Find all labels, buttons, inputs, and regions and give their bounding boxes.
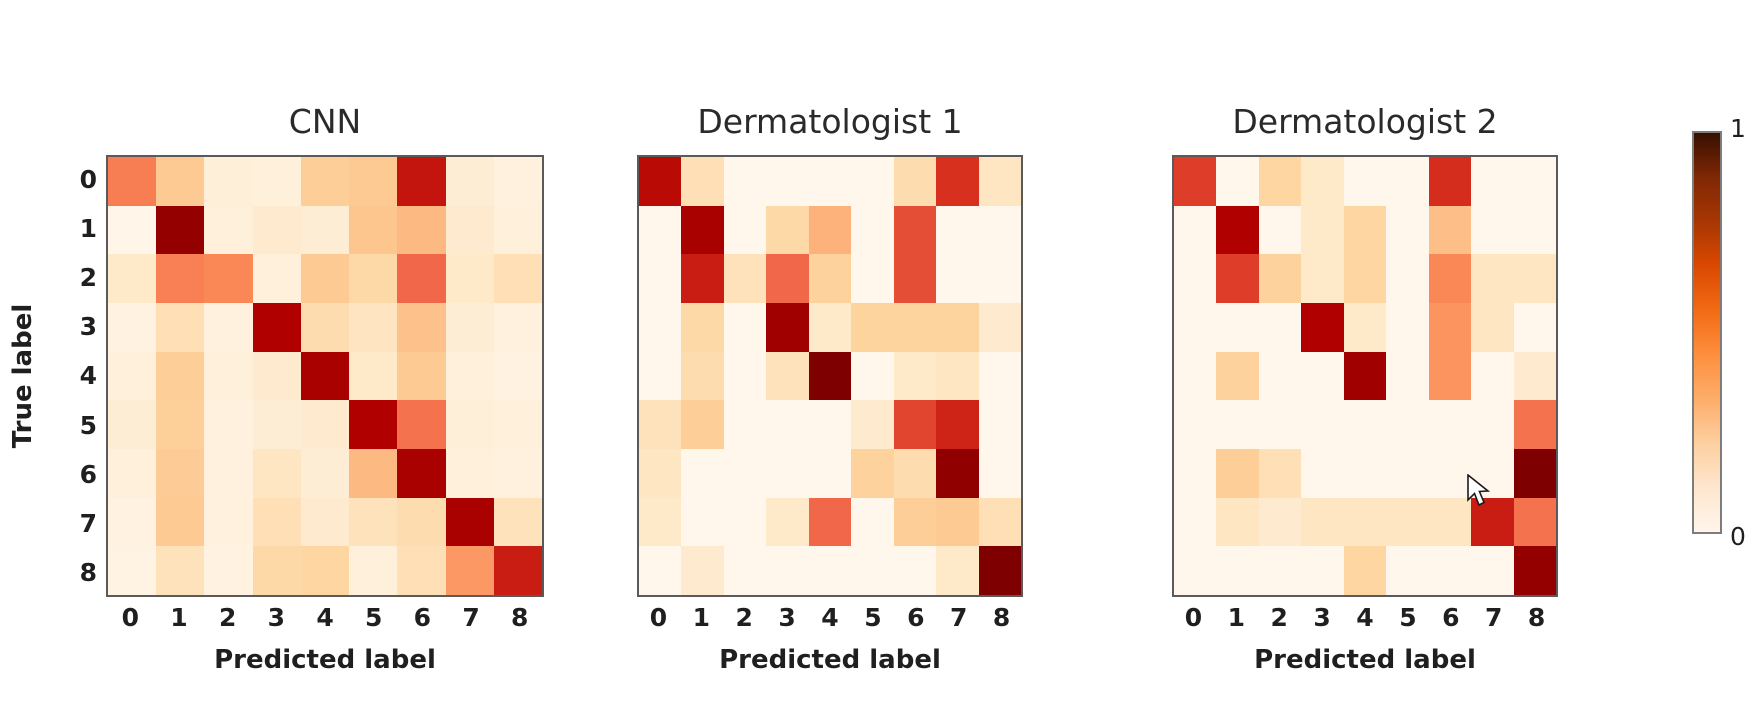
heatmap-cell: [108, 352, 156, 401]
heatmap-cell: [349, 206, 397, 255]
heatmap-cell: [766, 546, 808, 595]
heatmap-cell: [1216, 254, 1258, 303]
heatmap-cell: [1514, 157, 1556, 206]
heatmap-cell: [851, 400, 893, 449]
heatmap-cell: [1259, 157, 1301, 206]
heatmap-cell: [1259, 303, 1301, 352]
heatmap-cell: [1514, 546, 1556, 595]
heatmap-cell: [349, 157, 397, 206]
x-tick-5: 5: [851, 597, 894, 637]
heatmap-cell: [851, 254, 893, 303]
heatmap-cell: [156, 352, 204, 401]
heatmap-cell: [766, 303, 808, 352]
heatmap-cell: [681, 254, 723, 303]
x-tick-3: 3: [1301, 597, 1344, 637]
heatmap-cell: [681, 449, 723, 498]
heatmap-cell: [979, 206, 1021, 255]
heatmap-cell: [397, 449, 445, 498]
confusion-matrix-figure: True label 012345678 CNN 012345678 Predi…: [0, 0, 1760, 706]
heatmap-cell: [681, 303, 723, 352]
heatmap-cell: [204, 157, 252, 206]
heatmap-cell: [108, 449, 156, 498]
heatmap-cell: [1344, 157, 1386, 206]
x-tick-6: 6: [398, 597, 447, 637]
heatmap-cell: [204, 400, 252, 449]
x-tick-0: 0: [106, 597, 155, 637]
heatmap-cell: [156, 498, 204, 547]
heatmap-cell: [301, 498, 349, 547]
heatmap-cell: [1344, 400, 1386, 449]
heatmap-cell: [681, 400, 723, 449]
heatmap-cell: [397, 157, 445, 206]
heatmap-cell: [397, 498, 445, 547]
heatmap-cell: [1386, 254, 1428, 303]
heatmap-cell: [979, 157, 1021, 206]
heatmap-cell: [1174, 400, 1216, 449]
heatmap-cell: [108, 254, 156, 303]
heatmap-cell: [446, 400, 494, 449]
heatmap-cell: [1429, 254, 1471, 303]
heatmap-cell: [1301, 157, 1343, 206]
heatmap-cell: [1344, 449, 1386, 498]
x-tick-5: 5: [349, 597, 398, 637]
heatmap-cell: [724, 303, 766, 352]
panel-title-dermatologist-2: Dermatologist 2: [1232, 102, 1497, 141]
heatmap-cell: [1216, 157, 1258, 206]
heatmap-cell: [809, 254, 851, 303]
heatmap-cell: [1514, 449, 1556, 498]
x-tick-2: 2: [203, 597, 252, 637]
heatmap-cell: [639, 352, 681, 401]
heatmap-cell: [1514, 254, 1556, 303]
heatmap-cell: [156, 400, 204, 449]
heatmap-cell: [156, 254, 204, 303]
heatmap-cell: [894, 303, 936, 352]
heatmap-cell: [494, 254, 542, 303]
y-tick-5: 5: [66, 401, 106, 450]
heatmap-cell: [1174, 303, 1216, 352]
x-tick-0: 0: [1172, 597, 1215, 637]
heatmap-cell: [1429, 498, 1471, 547]
heatmap-cell: [1471, 400, 1513, 449]
heatmap-cell: [851, 352, 893, 401]
heatmap-cell: [108, 546, 156, 595]
heatmap-cell: [724, 449, 766, 498]
x-tick-8: 8: [980, 597, 1023, 637]
heatmap-cell: [979, 498, 1021, 547]
heatmap-cell: [851, 546, 893, 595]
heatmap-cell: [204, 254, 252, 303]
heatmap-cell: [809, 303, 851, 352]
colorbar: 1 0: [1692, 131, 1722, 534]
heatmap-cell: [349, 400, 397, 449]
heatmap-cell: [936, 400, 978, 449]
heatmap-cell: [1301, 206, 1343, 255]
heatmap-cell: [253, 546, 301, 595]
heatmap-cell: [1344, 352, 1386, 401]
heatmap-cell: [639, 303, 681, 352]
heatmap-cell: [253, 449, 301, 498]
heatmap-cell: [1216, 352, 1258, 401]
heatmap-cell: [1301, 498, 1343, 547]
heatmap-cell: [301, 303, 349, 352]
heatmap-cell: [108, 400, 156, 449]
x-tick-1: 1: [680, 597, 723, 637]
heatmap-cell: [766, 254, 808, 303]
heatmap-cell: [1301, 352, 1343, 401]
heatmap-cell: [809, 157, 851, 206]
heatmap-cell: [1216, 498, 1258, 547]
heatmap-cell: [1429, 546, 1471, 595]
heatmap-cell: [446, 352, 494, 401]
heatmap-cell: [1174, 352, 1216, 401]
heatmap-cell: [1386, 206, 1428, 255]
x-tick-4: 4: [1344, 597, 1387, 637]
heatmap-cell: [1386, 157, 1428, 206]
heatmap-cell: [936, 546, 978, 595]
colorbar-max-label: 1: [1730, 114, 1746, 143]
heatmap-cell: [253, 254, 301, 303]
heatmap-cell: [809, 546, 851, 595]
heatmap-cell: [349, 498, 397, 547]
heatmap-cell: [156, 546, 204, 595]
heatmap-cell: [349, 546, 397, 595]
heatmap-cell: [639, 546, 681, 595]
panel-dermatologist-2: Dermatologist 2: [1172, 155, 1558, 597]
heatmap-cell: [724, 498, 766, 547]
x-tick-0: 0: [637, 597, 680, 637]
heatmap-cell: [397, 303, 445, 352]
heatmap-cell: [979, 400, 1021, 449]
x-tick-5: 5: [1386, 597, 1429, 637]
x-axis-label-dermatologist-2: Predicted label: [1172, 645, 1558, 675]
x-tick-1: 1: [1215, 597, 1258, 637]
heatmap-cell: [204, 449, 252, 498]
heatmap-cell: [809, 206, 851, 255]
y-tick-4: 4: [66, 351, 106, 400]
heatmap-cell: [894, 546, 936, 595]
heatmap-cell: [1344, 303, 1386, 352]
heatmap-cell: [349, 352, 397, 401]
heatmap-cell: [894, 206, 936, 255]
x-axis-label-dermatologist-1: Predicted label: [637, 645, 1023, 675]
heatmap-cell: [894, 449, 936, 498]
heatmap-cell: [1216, 206, 1258, 255]
heatmap-cell: [639, 157, 681, 206]
heatmap-cell: [156, 157, 204, 206]
heatmap-cell: [1429, 157, 1471, 206]
x-tick-1: 1: [155, 597, 204, 637]
heatmap-cell: [724, 546, 766, 595]
heatmap-cell: [979, 352, 1021, 401]
y-axis-label: True label: [8, 304, 38, 449]
heatmap-cell: [1471, 303, 1513, 352]
heatmap-cell: [1429, 449, 1471, 498]
heatmap-cell: [494, 157, 542, 206]
heatmap-cell: [446, 546, 494, 595]
heatmap-cell: [253, 498, 301, 547]
heatmap-cell: [301, 157, 349, 206]
heatmap-cell: [301, 206, 349, 255]
heatmap-cell: [1344, 254, 1386, 303]
heatmap-cell: [639, 206, 681, 255]
x-tick-7: 7: [447, 597, 496, 637]
x-tick-2: 2: [1258, 597, 1301, 637]
x-tick-2: 2: [723, 597, 766, 637]
panel-dermatologist-1: Dermatologist 1: [637, 155, 1023, 597]
x-axis-ticks-dermatologist-2: 012345678: [1172, 597, 1558, 637]
heatmap-cell: [936, 206, 978, 255]
y-tick-7: 7: [66, 499, 106, 548]
heatmap-cell: [894, 498, 936, 547]
heatmap-cell: [204, 303, 252, 352]
heatmap-cell: [724, 400, 766, 449]
heatmap-cell: [494, 352, 542, 401]
heatmap-cell: [681, 157, 723, 206]
heatmap-cell: [639, 254, 681, 303]
heatmap-cell: [809, 352, 851, 401]
heatmap-cell: [936, 157, 978, 206]
heatmap-cell: [301, 449, 349, 498]
heatmap-grid-dermatologist-1[interactable]: [637, 155, 1023, 597]
heatmap-cell: [639, 498, 681, 547]
heatmap-cell: [301, 400, 349, 449]
x-axis-label-cnn: Predicted label: [106, 645, 544, 675]
heatmap-cell: [936, 498, 978, 547]
heatmap-cell: [446, 157, 494, 206]
heatmap-cell: [1174, 206, 1216, 255]
x-tick-4: 4: [301, 597, 350, 637]
heatmap-cell: [851, 498, 893, 547]
heatmap-cell: [108, 498, 156, 547]
x-tick-3: 3: [766, 597, 809, 637]
heatmap-cell: [1216, 400, 1258, 449]
x-tick-6: 6: [894, 597, 937, 637]
heatmap-cell: [1301, 303, 1343, 352]
heatmap-cell: [1386, 400, 1428, 449]
heatmap-cell: [809, 449, 851, 498]
heatmap-cell: [1429, 352, 1471, 401]
y-tick-8: 8: [66, 548, 106, 597]
heatmap-cell: [1301, 400, 1343, 449]
heatmap-cell: [1259, 254, 1301, 303]
heatmap-cell: [301, 546, 349, 595]
heatmap-cell: [766, 498, 808, 547]
heatmap-cell: [1344, 206, 1386, 255]
heatmap-cell: [1471, 498, 1513, 547]
heatmap-cell: [809, 498, 851, 547]
heatmap-cell: [1344, 498, 1386, 547]
heatmap-cell: [397, 254, 445, 303]
heatmap-cell: [1514, 498, 1556, 547]
heatmap-cell: [894, 352, 936, 401]
heatmap-cell: [681, 546, 723, 595]
heatmap-cell: [1386, 352, 1428, 401]
panel-cnn: CNN: [106, 155, 544, 597]
heatmap-cell: [253, 352, 301, 401]
y-tick-2: 2: [66, 253, 106, 302]
heatmap-cell: [766, 206, 808, 255]
heatmap-cell: [108, 206, 156, 255]
heatmap-cell: [1301, 254, 1343, 303]
heatmap-cell: [494, 303, 542, 352]
heatmap-cell: [494, 400, 542, 449]
y-tick-6: 6: [66, 450, 106, 499]
heatmap-cell: [1344, 546, 1386, 595]
heatmap-cell: [894, 157, 936, 206]
heatmap-cell: [1259, 352, 1301, 401]
x-tick-8: 8: [495, 597, 544, 637]
heatmap-cell: [253, 303, 301, 352]
heatmap-cell: [1471, 254, 1513, 303]
heatmap-cell: [936, 352, 978, 401]
heatmap-cell: [1386, 449, 1428, 498]
heatmap-cell: [349, 303, 397, 352]
heatmap-cell: [766, 352, 808, 401]
panel-title-cnn: CNN: [289, 102, 361, 141]
heatmap-cell: [1301, 449, 1343, 498]
y-axis-ticks: 012345678: [66, 155, 106, 597]
colorbar-min-label: 0: [1730, 522, 1746, 551]
heatmap-cell: [446, 303, 494, 352]
heatmap-cell: [1386, 498, 1428, 547]
heatmap-cell: [397, 400, 445, 449]
heatmap-cell: [851, 206, 893, 255]
heatmap-cell: [156, 449, 204, 498]
heatmap-cell: [979, 449, 1021, 498]
heatmap-cell: [1471, 449, 1513, 498]
heatmap-cell: [809, 400, 851, 449]
heatmap-cell: [1174, 546, 1216, 595]
heatmap-cell: [1301, 546, 1343, 595]
heatmap-cell: [1471, 206, 1513, 255]
heatmap-cell: [156, 303, 204, 352]
heatmap-cell: [936, 303, 978, 352]
heatmap-cell: [979, 546, 1021, 595]
heatmap-cell: [1259, 498, 1301, 547]
heatmap-cell: [108, 157, 156, 206]
heatmap-cell: [397, 352, 445, 401]
heatmap-cell: [936, 449, 978, 498]
x-axis-ticks-cnn: 012345678: [106, 597, 544, 637]
x-tick-4: 4: [809, 597, 852, 637]
heatmap-cell: [494, 206, 542, 255]
panel-title-dermatologist-1: Dermatologist 1: [697, 102, 962, 141]
heatmap-cell: [397, 546, 445, 595]
x-tick-7: 7: [1472, 597, 1515, 637]
heatmap-cell: [979, 254, 1021, 303]
heatmap-cell: [851, 303, 893, 352]
heatmap-cell: [894, 254, 936, 303]
x-tick-3: 3: [252, 597, 301, 637]
heatmap-cell: [681, 352, 723, 401]
heatmap-cell: [1429, 303, 1471, 352]
heatmap-cell: [204, 546, 252, 595]
heatmap-cell: [204, 352, 252, 401]
heatmap-cell: [1429, 206, 1471, 255]
heatmap-cell: [894, 400, 936, 449]
heatmap-cell: [108, 303, 156, 352]
heatmap-cell: [253, 157, 301, 206]
y-tick-3: 3: [66, 302, 106, 351]
heatmap-grid-dermatologist-2[interactable]: [1172, 155, 1558, 597]
heatmap-cell: [1174, 449, 1216, 498]
heatmap-cell: [1471, 157, 1513, 206]
heatmap-cell: [1471, 352, 1513, 401]
heatmap-cell: [494, 546, 542, 595]
heatmap-cell: [766, 157, 808, 206]
heatmap-cell: [1514, 206, 1556, 255]
heatmap-cell: [349, 449, 397, 498]
heatmap-cell: [301, 352, 349, 401]
heatmap-cell: [1216, 449, 1258, 498]
heatmap-cell: [446, 449, 494, 498]
heatmap-cell: [446, 498, 494, 547]
heatmap-cell: [1259, 546, 1301, 595]
heatmap-cell: [494, 498, 542, 547]
heatmap-cell: [204, 498, 252, 547]
heatmap-grid-cnn[interactable]: [106, 155, 544, 597]
heatmap-cell: [681, 498, 723, 547]
heatmap-cell: [851, 157, 893, 206]
heatmap-cell: [1174, 498, 1216, 547]
y-tick-0: 0: [66, 155, 106, 204]
heatmap-cell: [724, 254, 766, 303]
heatmap-cell: [979, 303, 1021, 352]
heatmap-cell: [1174, 157, 1216, 206]
x-axis-ticks-dermatologist-1: 012345678: [637, 597, 1023, 637]
heatmap-cell: [724, 157, 766, 206]
x-tick-8: 8: [1515, 597, 1558, 637]
heatmap-cell: [397, 206, 445, 255]
heatmap-cell: [1259, 206, 1301, 255]
heatmap-cell: [1514, 400, 1556, 449]
heatmap-cell: [639, 449, 681, 498]
heatmap-cell: [639, 400, 681, 449]
heatmap-cell: [851, 449, 893, 498]
y-tick-1: 1: [66, 204, 106, 253]
heatmap-cell: [1216, 303, 1258, 352]
heatmap-cell: [446, 254, 494, 303]
heatmap-cell: [766, 449, 808, 498]
heatmap-cell: [724, 352, 766, 401]
heatmap-cell: [1259, 449, 1301, 498]
heatmap-cell: [1471, 546, 1513, 595]
heatmap-cell: [349, 254, 397, 303]
heatmap-cell: [1386, 303, 1428, 352]
heatmap-cell: [936, 254, 978, 303]
heatmap-cell: [301, 254, 349, 303]
heatmap-cell: [681, 206, 723, 255]
heatmap-cell: [724, 206, 766, 255]
colorbar-gradient: [1692, 131, 1722, 534]
heatmap-cell: [253, 400, 301, 449]
heatmap-cell: [1174, 254, 1216, 303]
heatmap-cell: [494, 449, 542, 498]
heatmap-cell: [766, 400, 808, 449]
heatmap-cell: [204, 206, 252, 255]
x-tick-6: 6: [1429, 597, 1472, 637]
heatmap-cell: [1514, 303, 1556, 352]
heatmap-cell: [1429, 400, 1471, 449]
heatmap-cell: [1216, 546, 1258, 595]
heatmap-cell: [156, 206, 204, 255]
heatmap-cell: [1514, 352, 1556, 401]
heatmap-cell: [1259, 400, 1301, 449]
heatmap-cell: [253, 206, 301, 255]
x-tick-7: 7: [937, 597, 980, 637]
heatmap-cell: [1386, 546, 1428, 595]
